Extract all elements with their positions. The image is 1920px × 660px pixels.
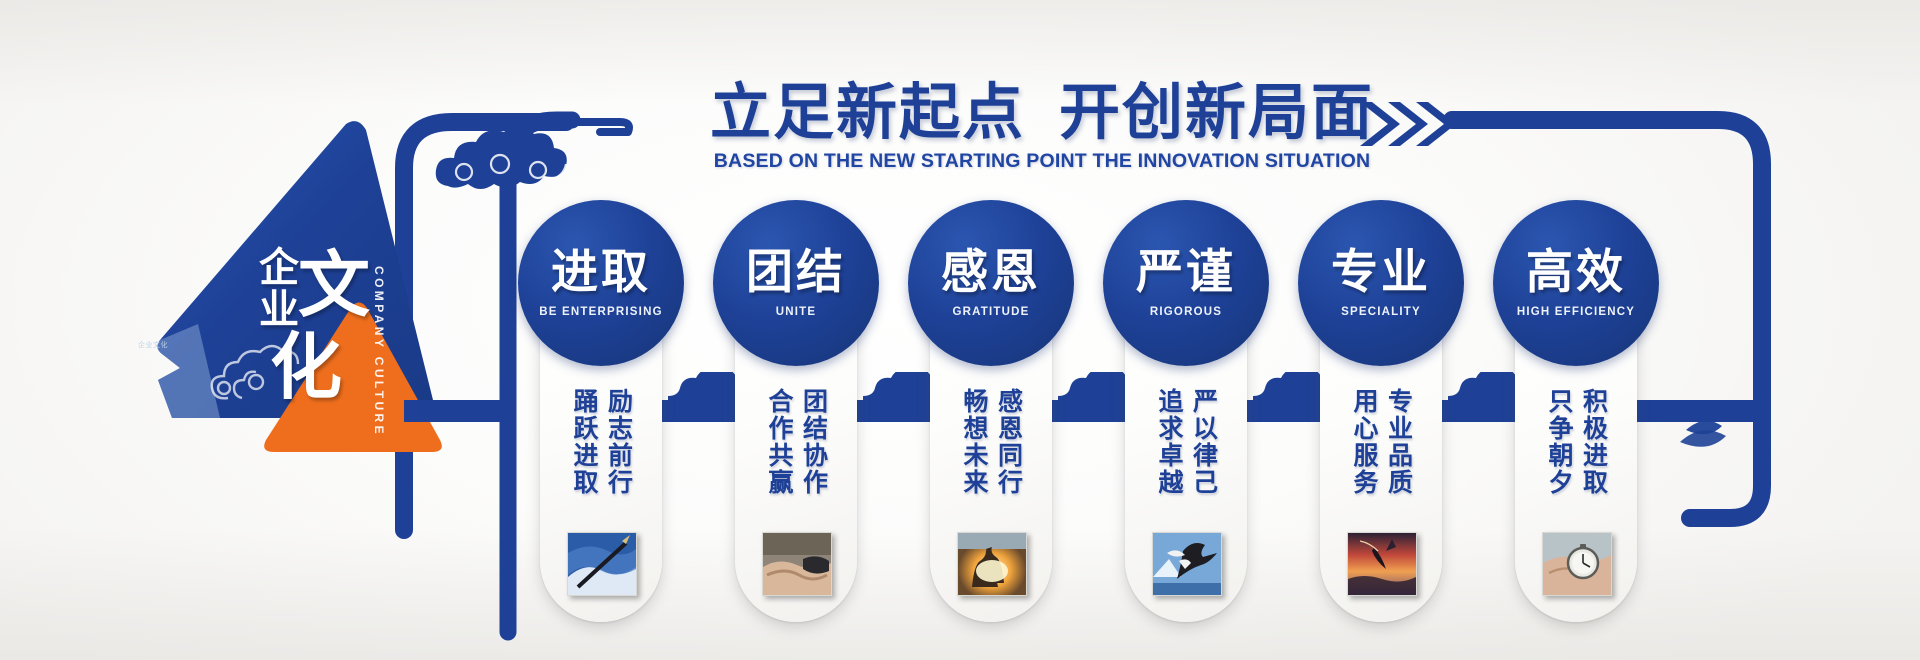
value-slogan-right: 团结协作: [799, 388, 828, 518]
value-keyword-en: RIGOROUS: [1150, 306, 1222, 318]
value-pill[interactable]: 团结 UNITE 团结协作 合作共赢: [735, 232, 857, 622]
value-keyword: 严谨: [1136, 249, 1236, 296]
value-keyword-en: BE ENTERPRISING: [539, 306, 662, 318]
value-slogan-right: 专业品质: [1384, 388, 1413, 518]
value-circle-badge[interactable]: 专业 SPECIALITY: [1298, 200, 1464, 366]
photo-helping-hand-sunset: [958, 533, 1026, 595]
photo-hands-together: [763, 533, 831, 595]
value-slogan-left: 合作共赢: [765, 388, 794, 518]
value-slogan-right: 严以律己: [1189, 388, 1218, 518]
photo-eagle-flying: [1153, 533, 1221, 595]
value-slogan-left: 踊跃进取: [570, 388, 599, 518]
value-photo: [1542, 532, 1612, 596]
chevron-right-triple-icon: [1358, 98, 1462, 150]
headline-english: BASED ON THE NEW STARTING POINT THE INNO…: [672, 150, 1412, 173]
value-slogan: 严以律己 追求卓越: [1125, 388, 1247, 518]
headline-chinese-part1: 立足新起点: [710, 77, 1025, 148]
value-pill[interactable]: 进取 BE ENTERPRISING 励志前行 踊跃进取: [540, 232, 662, 622]
value-keyword-en: GRATITUDE: [952, 306, 1029, 318]
value-keyword: 感恩: [941, 249, 1041, 296]
value-slogan: 团结协作 合作共赢: [735, 388, 857, 518]
value-pill[interactable]: 高效 HIGH EFFICIENCY 积极进取 只争朝夕: [1515, 232, 1637, 622]
connector-bar: [404, 400, 514, 422]
value-slogan: 专业品质 用心服务: [1320, 388, 1442, 518]
value-slogan-right: 励志前行: [604, 388, 633, 518]
value-circle-badge[interactable]: 团结 UNITE: [713, 200, 879, 366]
value-circle-badge[interactable]: 严谨 RIGOROUS: [1103, 200, 1269, 366]
value-photo: [567, 532, 637, 596]
headline-block: 立足新起点开创新局面 BASED ON THE NEW STARTING POI…: [672, 82, 1412, 173]
value-slogan-left: 畅想未来: [960, 388, 989, 518]
photo-sunset-flight: [1348, 533, 1416, 595]
culture-wall-scene: 企业 文 化 COMPANY CULTURE 企业文化 立足新起点开创新局面 B…: [0, 0, 1920, 660]
value-keyword-en: UNITE: [776, 306, 817, 318]
headline-chinese-part2: 开创新局面: [1059, 77, 1374, 148]
value-pill[interactable]: 严谨 RIGOROUS 严以律己 追求卓越: [1125, 232, 1247, 622]
value-photo: [762, 532, 832, 596]
value-slogan: 积极进取 只争朝夕: [1515, 388, 1637, 518]
photo-stopwatch-hand: [1543, 533, 1611, 595]
headline-chinese: 立足新起点开创新局面: [672, 82, 1412, 143]
value-slogan-left: 追求卓越: [1155, 388, 1184, 518]
value-keyword-en: SPECIALITY: [1341, 306, 1421, 318]
value-photo: [1152, 532, 1222, 596]
value-pill[interactable]: 感恩 GRATITUDE 感恩同行 畅想未来: [930, 232, 1052, 622]
value-keyword-en: HIGH EFFICIENCY: [1517, 306, 1635, 318]
value-keyword: 团结: [746, 249, 846, 296]
value-photo: [1347, 532, 1417, 596]
value-slogan-left: 只争朝夕: [1545, 388, 1574, 518]
company-culture-logo: 企业 文 化 COMPANY CULTURE 企业文化: [150, 118, 440, 458]
value-slogan-left: 用心服务: [1350, 388, 1379, 518]
value-slogan: 感恩同行 畅想未来: [930, 388, 1052, 518]
value-circle-badge[interactable]: 感恩 GRATITUDE: [908, 200, 1074, 366]
value-keyword: 专业: [1331, 249, 1431, 296]
value-slogan-right: 积极进取: [1579, 388, 1608, 518]
value-circle-badge[interactable]: 高效 HIGH EFFICIENCY: [1493, 200, 1659, 366]
logo-maker-tag: 企业文化: [138, 340, 168, 350]
value-slogan: 励志前行 踊跃进取: [540, 388, 662, 518]
value-slogan-right: 感恩同行: [994, 388, 1023, 518]
chinese-cloud-icon: [430, 128, 590, 208]
value-circle-badge[interactable]: 进取 BE ENTERPRISING: [518, 200, 684, 366]
photo-pen-blue: [568, 533, 636, 595]
connector-bar: [1635, 400, 1765, 422]
value-keyword: 高效: [1526, 249, 1626, 296]
value-keyword: 进取: [551, 249, 651, 296]
chinese-cloud-icon: [198, 336, 318, 406]
value-pill[interactable]: 专业 SPECIALITY 专业品质 用心服务: [1320, 232, 1442, 622]
value-photo: [957, 532, 1027, 596]
